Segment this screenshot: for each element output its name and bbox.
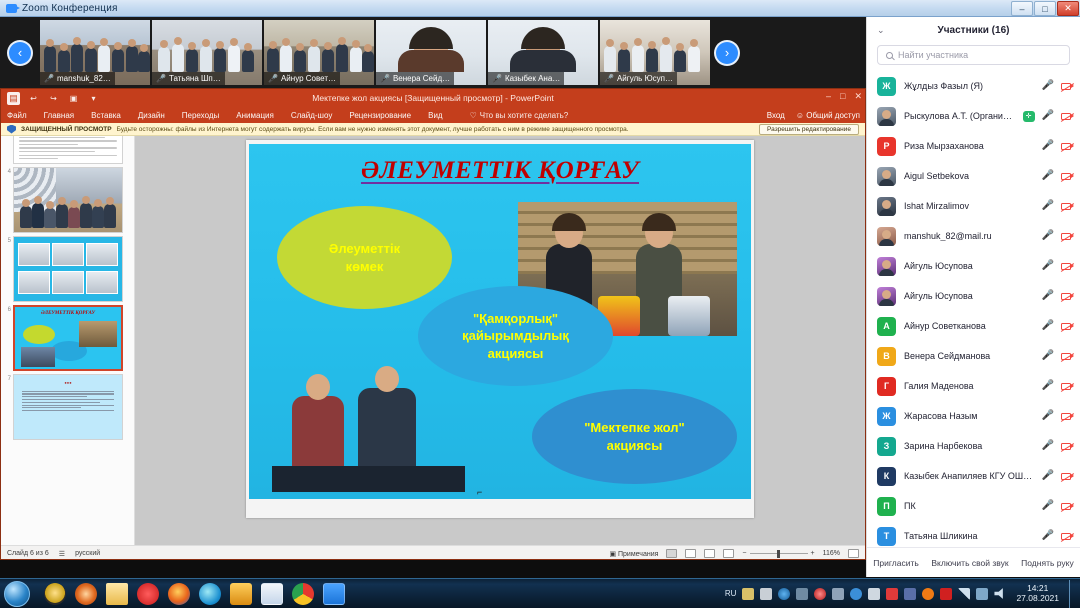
clock-date: 27.08.2021 bbox=[1016, 594, 1059, 604]
slide-bubble-green: Әлеуметтік көмек bbox=[277, 206, 452, 309]
enable-editing-button[interactable]: Разрешить редактирование bbox=[759, 124, 859, 135]
notes-label: Примечания bbox=[618, 551, 658, 558]
avatar: А bbox=[877, 317, 896, 336]
thumbnail-item[interactable]: 7 ●●● bbox=[1, 371, 134, 440]
participant-status-icons[interactable]: 🎤 bbox=[1042, 411, 1071, 421]
shield-icon bbox=[7, 125, 16, 134]
camera-off-icon[interactable] bbox=[1061, 533, 1071, 540]
participant-row[interactable]: А Айнур Советканова 🎤 bbox=[867, 311, 1080, 341]
camera-off-icon[interactable] bbox=[1061, 353, 1071, 360]
thumbnail-item[interactable]: 5 bbox=[1, 233, 134, 302]
zoom-slider[interactable]: − + bbox=[742, 550, 814, 557]
mic-muted-icon[interactable]: 🎤 bbox=[1042, 471, 1054, 481]
chrome-icon[interactable] bbox=[292, 583, 314, 605]
tile-participant-name: Казыбек Ана… bbox=[505, 74, 560, 83]
camera-off-icon[interactable] bbox=[1061, 443, 1071, 450]
ppt-minimize-button[interactable]: – bbox=[826, 91, 831, 102]
thumbnail-preview[interactable] bbox=[13, 136, 123, 164]
participant-name: Айгуль Юсупова bbox=[904, 291, 1034, 301]
language-indicator[interactable]: RU bbox=[725, 589, 737, 598]
powerpoint-document-title: Мектепке жол акциясы [Защищенный просмот… bbox=[1, 93, 865, 103]
participant-name: Татьяна Шликина bbox=[904, 531, 1034, 541]
camera-off-icon[interactable] bbox=[1061, 293, 1071, 300]
powerpoint-window-controls[interactable]: – □ ✕ bbox=[826, 91, 862, 102]
lightbulb-icon: ♡ bbox=[470, 111, 477, 120]
slide-bubble-blue-1: "Қамқорлық" қайырымдылық акциясы bbox=[418, 286, 613, 386]
participant-row[interactable]: Ishat Mirzalimov 🎤 bbox=[867, 191, 1080, 221]
save-icon[interactable]: ▤ bbox=[7, 92, 20, 105]
tray-warn-icon[interactable] bbox=[922, 588, 934, 600]
next-page-arrow-icon[interactable]: › bbox=[716, 42, 738, 64]
tab-review[interactable]: Рецензирование bbox=[349, 111, 411, 120]
aimp-icon[interactable] bbox=[75, 583, 97, 605]
participant-status-icons[interactable]: 🎤 bbox=[1042, 141, 1071, 151]
participant-status-icons[interactable]: 🎤 bbox=[1042, 231, 1071, 241]
participants-search-wrap: Найти участника bbox=[867, 43, 1080, 71]
participant-row[interactable]: Aigul Setbekova 🎤 bbox=[867, 161, 1080, 191]
thumbnail-caption: ●●● bbox=[14, 380, 122, 385]
mouse-cursor-icon: ⌐ bbox=[477, 487, 482, 497]
language-indicator[interactable]: русский bbox=[75, 550, 100, 557]
participant-status-icons[interactable]: 🎤 bbox=[1042, 531, 1071, 541]
participant-name: Рыскулова А.Т. (Организатор) bbox=[904, 111, 1015, 121]
mic-muted-icon: 🎤 bbox=[156, 75, 166, 83]
participant-status-icons[interactable]: 🎤 bbox=[1042, 441, 1071, 451]
avatar: В bbox=[877, 347, 896, 366]
thumbnail-preview[interactable] bbox=[13, 167, 123, 233]
zoom-title-bar: Zoom Конференция – □ ✕ bbox=[0, 0, 1080, 17]
search-input[interactable]: Найти участника bbox=[877, 45, 1070, 65]
zoom-window-title: Zoom Конференция bbox=[22, 3, 118, 14]
avatar: К bbox=[877, 467, 896, 486]
yandex-icon[interactable] bbox=[137, 583, 159, 605]
camera-off-icon[interactable] bbox=[1061, 143, 1071, 150]
avatar bbox=[877, 107, 896, 126]
mic-muted-icon: 🎤 bbox=[492, 75, 502, 83]
tab-transitions[interactable]: Переходы bbox=[182, 111, 220, 120]
bubble-green-text: Әлеуметтік көмек bbox=[329, 240, 400, 275]
camera-off-icon[interactable] bbox=[1061, 263, 1071, 270]
powerpoint-status-bar: Слайд 6 из 6 ☰ русский ▣ Примечания − + … bbox=[1, 545, 865, 560]
thumbnail-preview[interactable]: ●●● bbox=[13, 374, 123, 440]
view-slideshow-icon[interactable] bbox=[723, 549, 734, 558]
participant-row[interactable]: Ж Жарасова Назым 🎤 bbox=[867, 401, 1080, 431]
decor-people bbox=[152, 32, 262, 72]
search-placeholder: Найти участника bbox=[898, 50, 968, 60]
video-tile[interactable]: 🎤 Венера Сейд… bbox=[376, 20, 486, 85]
powerpoint-window: ▤ ↩ ↪ ▣ ▾ Мектепке жол акциясы [Защищенн… bbox=[0, 88, 866, 560]
tile-nameplate: 🎤 Айнур Совет… bbox=[264, 72, 340, 85]
mic-muted-icon[interactable]: 🎤 bbox=[1042, 381, 1054, 391]
thumbnail-preview[interactable] bbox=[13, 236, 123, 302]
tile-nameplate: 🎤 manshuk_82… bbox=[40, 72, 115, 85]
thumbnail-item[interactable]: 4 bbox=[1, 164, 134, 233]
current-slide[interactable]: ӘЛЕУМЕТТІК ҚОРҒАУ bbox=[246, 140, 754, 518]
tray-network-icon[interactable] bbox=[958, 588, 970, 600]
ppt-maximize-button[interactable]: □ bbox=[840, 91, 845, 102]
thumbnail-title: ӘЛЕУМЕТТІК ҚОРҒАУ bbox=[15, 311, 121, 316]
mic-muted-icon[interactable]: 🎤 bbox=[1042, 81, 1054, 91]
avatar: Р bbox=[877, 137, 896, 156]
participant-row[interactable]: Рыскулова А.Т. (Организатор) ✛ 🎤 bbox=[867, 101, 1080, 131]
slide-bubble-blue-2: "Мектепке жол" акциясы bbox=[532, 389, 737, 484]
mic-muted-icon: 🎤 bbox=[268, 75, 278, 83]
tray-red-icon[interactable] bbox=[940, 588, 952, 600]
decor-people bbox=[264, 32, 374, 72]
participants-panel: ⌄ Участники (16) Найти участника Ж Жұлды… bbox=[866, 17, 1080, 577]
status-bar-right: ▣ Примечания − + 116% bbox=[609, 549, 859, 558]
mic-muted-icon[interactable]: 🎤 bbox=[1042, 321, 1054, 331]
tab-home[interactable]: Главная bbox=[44, 111, 74, 120]
participant-row[interactable]: Ж Жұлдыз Фазыл (Я) 🎤 bbox=[867, 71, 1080, 101]
view-sorter-icon[interactable] bbox=[685, 549, 696, 558]
raise-hand-button[interactable]: Поднять руку bbox=[1021, 558, 1074, 568]
tile-participant-name: Татьяна Шп… bbox=[169, 74, 221, 83]
camera-off-icon[interactable] bbox=[1061, 233, 1071, 240]
zoom-in-icon[interactable]: + bbox=[811, 550, 815, 557]
tray-shield-icon[interactable] bbox=[868, 588, 880, 600]
video-tile[interactable]: 🎤 Казыбек Ана… bbox=[488, 20, 598, 85]
tile-nameplate: 🎤 Татьяна Шп… bbox=[152, 72, 225, 85]
firefox-icon[interactable] bbox=[168, 583, 190, 605]
participant-status-icons[interactable]: 🎤 bbox=[1042, 291, 1071, 301]
system-tray: RU 14:21 27.08.2021 bbox=[725, 580, 1080, 608]
video-tile[interactable]: 🎤 Татьяна Шп… bbox=[152, 20, 262, 85]
invite-button[interactable]: Пригласить bbox=[873, 558, 919, 568]
camera-off-icon[interactable] bbox=[1061, 323, 1071, 330]
camera-off-icon[interactable] bbox=[1061, 503, 1071, 510]
video-tile[interactable]: 🎤 Айгуль Юсуп… bbox=[600, 20, 710, 85]
participant-name: Риза Мырзаханова bbox=[904, 141, 1034, 151]
quick-access-toolbar[interactable]: ▤ ↩ ↪ ▣ ▾ bbox=[1, 92, 100, 105]
zoom-app-icon bbox=[6, 4, 17, 13]
camera-off-icon[interactable] bbox=[1061, 473, 1071, 480]
zoom-window-controls[interactable]: – □ ✕ bbox=[1011, 0, 1080, 17]
mic-muted-icon[interactable]: 🎤 bbox=[1042, 261, 1054, 271]
zoom-slider-knob[interactable] bbox=[777, 550, 780, 558]
tray-doc-icon[interactable] bbox=[742, 588, 754, 600]
view-normal-icon[interactable] bbox=[666, 549, 677, 558]
participant-row[interactable]: Т Татьяна Шликина 🎤 bbox=[867, 521, 1080, 547]
mic-muted-icon[interactable]: 🎤 bbox=[1042, 531, 1054, 541]
close-button[interactable]: ✕ bbox=[1057, 1, 1079, 16]
participant-name: ПК bbox=[904, 501, 1034, 511]
explorer-icon[interactable] bbox=[106, 583, 128, 605]
avatar bbox=[877, 227, 896, 246]
slide-title: ӘЛЕУМЕТТІК ҚОРҒАУ bbox=[249, 157, 751, 185]
participant-status-icons[interactable]: 🎤 bbox=[1042, 261, 1071, 271]
participant-row[interactable]: П ПК 🎤 bbox=[867, 491, 1080, 521]
avatar: Ж bbox=[877, 407, 896, 426]
tab-design[interactable]: Дизайн bbox=[138, 111, 165, 120]
mic-muted-icon[interactable]: 🎤 bbox=[1042, 201, 1054, 211]
thumbnail-number: 4 bbox=[4, 167, 11, 175]
unmute-button[interactable]: Включить свой звук bbox=[931, 558, 1008, 568]
mic-muted-icon[interactable]: 🎤 bbox=[1042, 411, 1054, 421]
tile-nameplate: 🎤 Айгуль Юсуп… bbox=[600, 72, 677, 85]
more-commands-icon[interactable]: ▾ bbox=[87, 92, 100, 105]
minimize-button[interactable]: – bbox=[1011, 1, 1033, 16]
camera-off-icon[interactable] bbox=[1061, 113, 1071, 120]
tile-nameplate: 🎤 Казыбек Ана… bbox=[488, 72, 564, 85]
thumbnail-number: 7 bbox=[4, 374, 11, 382]
participant-name: Галия Маденова bbox=[904, 381, 1034, 391]
participant-status-icons[interactable]: 🎤 bbox=[1042, 201, 1071, 211]
mic-on-icon[interactable]: 🎤 bbox=[1042, 141, 1054, 151]
participant-row[interactable]: К Казыбек Анапиляев КГУ ОШ 187 🎤 bbox=[867, 461, 1080, 491]
bubble-blue2-text: "Мектепке жол" акциясы bbox=[584, 419, 684, 454]
word-document-icon[interactable] bbox=[261, 583, 283, 605]
undo-icon[interactable]: ↩ bbox=[27, 92, 40, 105]
avatar bbox=[877, 287, 896, 306]
camera-off-icon[interactable] bbox=[1061, 203, 1071, 210]
camera-off-icon[interactable] bbox=[1061, 173, 1071, 180]
tray-opera-icon[interactable] bbox=[814, 588, 826, 600]
start-orb-icon[interactable] bbox=[4, 581, 30, 607]
participant-row[interactable]: В Венера Сейдманова 🎤 bbox=[867, 341, 1080, 371]
tile-participant-name: Айгуль Юсуп… bbox=[617, 74, 673, 83]
participant-row[interactable]: Айгуль Юсупова 🎤 bbox=[867, 281, 1080, 311]
participant-name: Ishat Mirzalimov bbox=[904, 201, 1034, 211]
slide-counter: Слайд 6 из 6 bbox=[7, 550, 49, 557]
ribbon-right-actions: Вход ☺ Общий доступ bbox=[767, 111, 860, 120]
mic-muted-icon[interactable]: 🎤 bbox=[1042, 231, 1054, 241]
search-icon bbox=[886, 52, 893, 59]
participant-status-icons[interactable]: 🎤 bbox=[1042, 171, 1071, 181]
video-thumbnail-strip: ‹ 🎤 manshuk_82… bbox=[0, 17, 866, 88]
video-tile[interactable]: 🎤 manshuk_82… bbox=[40, 20, 150, 85]
zoom-out-icon[interactable]: − bbox=[742, 550, 746, 557]
mic-muted-icon: 🎤 bbox=[380, 75, 390, 83]
show-desktop-button[interactable] bbox=[1069, 580, 1076, 608]
zoom-percent[interactable]: 116% bbox=[823, 550, 840, 557]
tell-me-label: Что вы хотите сделать? bbox=[480, 111, 568, 120]
decor-people bbox=[14, 188, 122, 228]
participant-status-icons[interactable]: 🎤 bbox=[1042, 81, 1071, 91]
view-reading-icon[interactable] bbox=[704, 549, 715, 558]
prev-page-arrow-icon[interactable]: ‹ bbox=[9, 42, 31, 64]
mic-muted-icon[interactable]: 🎤 bbox=[1042, 351, 1054, 361]
screen: Zoom Конференция – □ ✕ ‹ 🎤 manshuk_8 bbox=[0, 0, 1080, 608]
slide-thumbnail-panel[interactable]: 3 4 bbox=[1, 136, 135, 545]
protected-view-label: ЗАЩИЩЕННЫЙ ПРОСМОТР bbox=[21, 126, 112, 133]
participants-list[interactable]: Ж Жұлдыз Фазыл (Я) 🎤 Рыскулова А.Т. (Орг… bbox=[867, 71, 1080, 547]
tray-help-icon[interactable] bbox=[778, 588, 790, 600]
participant-row[interactable]: manshuk_82@mail.ru 🎤 bbox=[867, 221, 1080, 251]
tray-update-icon[interactable] bbox=[976, 588, 988, 600]
thumbnail-number: 5 bbox=[4, 236, 11, 244]
camera-off-icon[interactable] bbox=[1061, 383, 1071, 390]
start-presentation-icon[interactable]: ▣ bbox=[67, 92, 80, 105]
fit-slide-icon[interactable] bbox=[848, 549, 859, 558]
participants-header: ⌄ Участники (16) bbox=[867, 17, 1080, 43]
notes-button[interactable]: ▣ Примечания bbox=[609, 550, 658, 558]
slide-canvas-area: ӘЛЕУМЕТТІК ҚОРҒАУ bbox=[135, 136, 865, 545]
taskbar-clock[interactable]: 14:21 27.08.2021 bbox=[1012, 584, 1063, 604]
participant-status-icons[interactable]: 🎤 bbox=[1042, 381, 1071, 391]
video-tile[interactable]: 🎤 Айнур Совет… bbox=[264, 20, 374, 85]
avatar: Ж bbox=[877, 77, 896, 96]
participant-name: manshuk_82@mail.ru bbox=[904, 231, 1034, 241]
participant-name: Жұлдыз Фазыл (Я) bbox=[904, 81, 1034, 91]
participant-name: Айнур Советканова bbox=[904, 321, 1034, 331]
mic-muted-icon: 🎤 bbox=[604, 75, 614, 83]
chevron-down-icon[interactable]: ⌄ bbox=[877, 25, 885, 36]
decor-people bbox=[600, 32, 710, 72]
protected-view-message: Будьте осторожны: файлы из Интернета мог… bbox=[117, 126, 629, 133]
participant-name: Казыбек Анапиляев КГУ ОШ 187 bbox=[904, 471, 1034, 481]
powerpoint-title-bar: ▤ ↩ ↪ ▣ ▾ Мектепке жол акциясы [Защищенн… bbox=[1, 89, 865, 107]
zoom-meeting-icon[interactable] bbox=[323, 583, 345, 605]
participant-name: Зарина Нарбекова bbox=[904, 441, 1034, 451]
tile-nameplate: 🎤 Венера Сейд… bbox=[376, 72, 454, 85]
tab-slideshow[interactable]: Слайд-шоу bbox=[291, 111, 332, 120]
edge-icon[interactable] bbox=[199, 583, 221, 605]
participant-name: Айгуль Юсупова bbox=[904, 261, 1034, 271]
media-player-icon[interactable] bbox=[230, 583, 252, 605]
sign-in-button[interactable]: Вход bbox=[767, 111, 785, 120]
participant-status-icons[interactable]: 🎤 bbox=[1042, 321, 1071, 331]
camera-off-icon[interactable] bbox=[1061, 83, 1071, 90]
participant-name: Жарасова Назым bbox=[904, 411, 1034, 421]
tab-animations[interactable]: Анимация bbox=[236, 111, 274, 120]
participant-status-icons[interactable]: ✛ 🎤 bbox=[1023, 111, 1071, 122]
mic-muted-icon[interactable]: 🎤 bbox=[1042, 291, 1054, 301]
mic-muted-icon[interactable]: 🎤 bbox=[1042, 501, 1054, 511]
participant-status-icons[interactable]: 🎤 bbox=[1042, 501, 1071, 511]
mic-muted-icon: 🎤 bbox=[44, 75, 54, 83]
avatar: З bbox=[877, 437, 896, 456]
host-badge-icon: ✛ bbox=[1023, 111, 1035, 122]
avatar: Т bbox=[877, 527, 896, 546]
video-tiles: 🎤 manshuk_82… 🎤 Татьяна Шп… bbox=[40, 20, 710, 85]
tray-db-icon[interactable] bbox=[904, 588, 916, 600]
tile-participant-name: Айнур Совет… bbox=[281, 74, 336, 83]
participant-row[interactable]: Р Риза Мырзаханова 🎤 bbox=[867, 131, 1080, 161]
participants-footer: Пригласить Включить свой звук Поднять ру… bbox=[867, 547, 1080, 577]
app-yellow-icon[interactable] bbox=[44, 583, 66, 605]
windows-taskbar: RU 14:21 27.08.2021 bbox=[0, 578, 1080, 608]
maximize-button[interactable]: □ bbox=[1034, 1, 1056, 16]
tray-antivirus-icon[interactable] bbox=[886, 588, 898, 600]
powerpoint-ribbon-tabs: Файл Главная Вставка Дизайн Переходы Ани… bbox=[1, 107, 865, 123]
tell-me-box[interactable]: ♡ Что вы хотите сделать? bbox=[470, 111, 569, 120]
thumbnail-item[interactable]: 3 bbox=[1, 136, 134, 164]
participants-title: Участники (16) bbox=[938, 25, 1010, 36]
avatar bbox=[877, 197, 896, 216]
avatar: Г bbox=[877, 377, 896, 396]
avatar: П bbox=[877, 497, 896, 516]
slide-photo-bottom bbox=[272, 344, 465, 492]
mic-muted-icon[interactable]: 🎤 bbox=[1042, 171, 1054, 181]
tray-app-icon[interactable] bbox=[832, 588, 844, 600]
taskbar-items bbox=[44, 583, 345, 605]
tab-file[interactable]: Файл bbox=[7, 111, 27, 120]
participant-status-icons[interactable]: 🎤 bbox=[1042, 471, 1071, 481]
participant-row[interactable]: Айгуль Юсупова 🎤 bbox=[867, 251, 1080, 281]
share-label: Общий доступ bbox=[806, 111, 860, 120]
camera-off-icon[interactable] bbox=[1061, 413, 1071, 420]
mic-muted-icon[interactable]: 🎤 bbox=[1042, 441, 1054, 451]
tray-sync-icon[interactable] bbox=[796, 588, 808, 600]
protected-view-bar: ЗАЩИЩЕННЫЙ ПРОСМОТР Будьте осторожны: фа… bbox=[1, 123, 865, 136]
ppt-close-button[interactable]: ✕ bbox=[854, 91, 862, 102]
redo-icon[interactable]: ↪ bbox=[47, 92, 60, 105]
tab-view[interactable]: Вид bbox=[428, 111, 442, 120]
avatar bbox=[877, 167, 896, 186]
tile-participant-name: Венера Сейд… bbox=[393, 74, 450, 83]
thumbnail-item-selected[interactable]: 6 ӘЛЕУМЕТТІК ҚОРҒАУ bbox=[1, 302, 134, 371]
participant-row[interactable]: З Зарина Нарбекова 🎤 bbox=[867, 431, 1080, 461]
accessibility-icon[interactable]: ☰ bbox=[59, 550, 65, 558]
slide-background: ӘЛЕУМЕТТІК ҚОРҒАУ bbox=[249, 144, 751, 499]
avatar bbox=[877, 257, 896, 276]
mic-muted-icon[interactable]: 🎤 bbox=[1042, 111, 1054, 121]
decor-people bbox=[40, 32, 150, 72]
powerpoint-workspace: 3 4 bbox=[1, 136, 865, 545]
tray-blue-icon[interactable] bbox=[850, 588, 862, 600]
thumbnail-preview[interactable]: ӘЛЕУМЕТТІК ҚОРҒАУ bbox=[13, 305, 123, 371]
share-button[interactable]: ☺ Общий доступ bbox=[796, 111, 860, 120]
participant-name: Aigul Setbekova bbox=[904, 171, 1034, 181]
tray-box-icon[interactable] bbox=[760, 588, 772, 600]
participant-status-icons[interactable]: 🎤 bbox=[1042, 351, 1071, 361]
participant-name: Венера Сейдманова bbox=[904, 351, 1034, 361]
participant-row[interactable]: Г Галия Маденова 🎤 bbox=[867, 371, 1080, 401]
bubble-blue1-text: "Қамқорлық" қайырымдылық акциясы bbox=[462, 310, 569, 363]
thumbnail-number: 6 bbox=[4, 305, 11, 313]
tab-insert[interactable]: Вставка bbox=[91, 111, 121, 120]
tray-volume-icon[interactable] bbox=[994, 588, 1006, 600]
tile-participant-name: manshuk_82… bbox=[57, 74, 111, 83]
